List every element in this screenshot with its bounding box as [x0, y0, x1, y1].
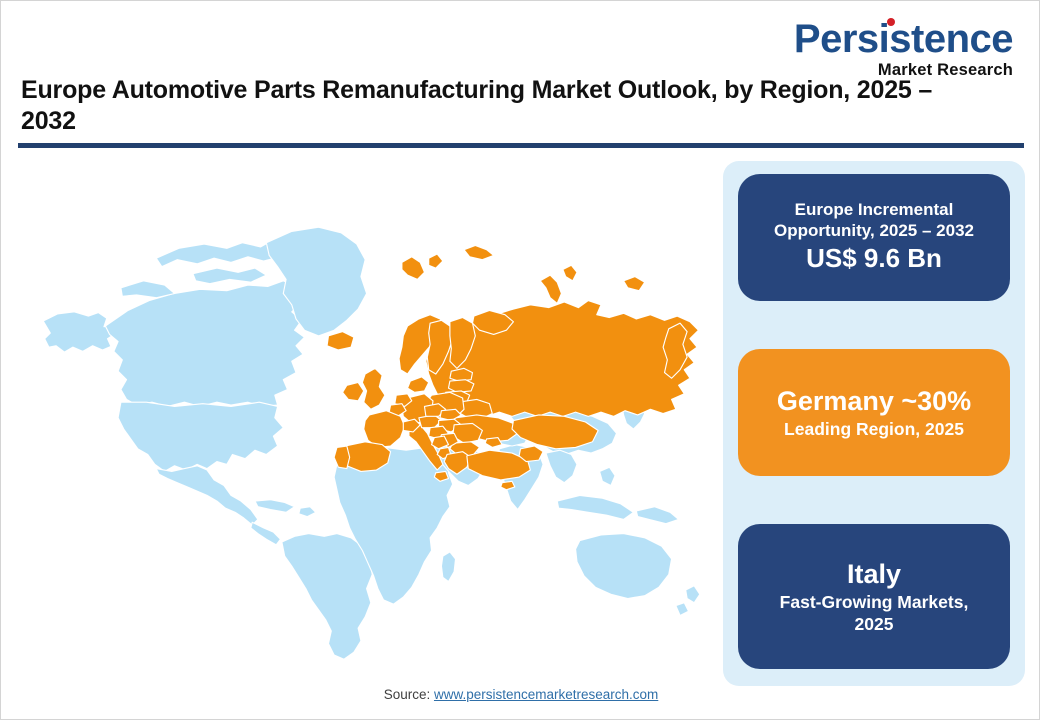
- map-region-novaya-zemlya-2: [563, 265, 577, 281]
- map-country-australia: [576, 534, 672, 599]
- world-map: [15, 169, 721, 675]
- map-region-svalbard-2: [429, 254, 443, 268]
- map-caribbean-islands-2: [299, 507, 316, 517]
- kpi-card-2-label: Leading Region, 2025: [784, 419, 964, 440]
- title-divider: [18, 143, 1024, 148]
- map-region-southeast-asia: [546, 450, 577, 482]
- map-arctic-island-2: [193, 268, 266, 284]
- kpi-card-1-label-line2: Opportunity, 2025 – 2032: [774, 221, 974, 242]
- map-region-novaya-zemlya: [540, 275, 561, 303]
- infographic-canvas: Persistence Market Research Europe Autom…: [0, 0, 1040, 720]
- map-country-new-zealand: [686, 586, 700, 603]
- kpi-card-europe-incremental-opportunity: Europe Incremental Opportunity, 2025 – 2…: [738, 174, 1010, 301]
- map-region-new-guinea: [636, 507, 678, 524]
- map-country-iceland: [327, 332, 354, 350]
- kpi-card-leading-region: Germany ~30% Leading Region, 2025: [738, 349, 1010, 476]
- map-region-franz-josef-land: [464, 246, 494, 260]
- source-prefix: Source:: [384, 687, 434, 702]
- map-continent-south-america: [282, 534, 372, 660]
- source-link[interactable]: www.persistencemarketresearch.com: [434, 687, 658, 702]
- kpi-card-3-value: Italy: [847, 558, 901, 591]
- map-country-france: [364, 411, 405, 448]
- map-arctic-island-3: [121, 281, 175, 298]
- kpi-card-1-value: US$ 9.6 Bn: [806, 243, 942, 275]
- page-title: Europe Automotive Parts Remanufacturing …: [21, 75, 961, 136]
- map-country-canada: [105, 281, 304, 407]
- map-arctic-islands: [156, 241, 284, 266]
- kpi-card-3-label-line1: Fast-Growing Markets,: [780, 592, 969, 613]
- logo-brand-text: Persistence: [794, 19, 1013, 59]
- map-country-alaska: [43, 312, 115, 352]
- map-highlighted-regions: [327, 246, 698, 490]
- company-logo: Persistence Market Research: [773, 19, 1013, 79]
- kpi-card-3-label-line2: 2025: [855, 614, 894, 635]
- kpi-panel: Europe Incremental Opportunity, 2025 – 2…: [723, 161, 1025, 686]
- map-caribbean-islands: [255, 500, 295, 513]
- map-country-united-states: [118, 402, 283, 471]
- source-line: Source: www.persistencemarketresearch.co…: [1, 687, 1040, 702]
- kpi-card-fast-growing-market: Italy Fast-Growing Markets, 2025: [738, 524, 1010, 669]
- map-country-ireland: [343, 382, 364, 400]
- map-region-svalbard: [402, 257, 425, 280]
- map-country-mexico: [156, 466, 258, 525]
- world-map-svg: [15, 169, 721, 675]
- map-country-denmark: [408, 377, 429, 393]
- logo-accent-dot-icon: [887, 18, 895, 26]
- kpi-card-1-label-line1: Europe Incremental: [795, 200, 954, 221]
- map-region-indonesia: [557, 495, 633, 519]
- map-country-central-america: [251, 522, 281, 545]
- map-country-united-kingdom: [362, 368, 385, 409]
- map-country-madagascar: [441, 552, 455, 582]
- map-country-new-zealand-2: [676, 603, 689, 616]
- map-region-severnaya-zemlya: [624, 277, 645, 291]
- map-region-caucasus: [519, 446, 543, 462]
- map-region-philippines: [600, 467, 616, 485]
- logo-brand-label: Persistence: [794, 17, 1013, 61]
- kpi-card-2-value: Germany ~30%: [777, 385, 971, 418]
